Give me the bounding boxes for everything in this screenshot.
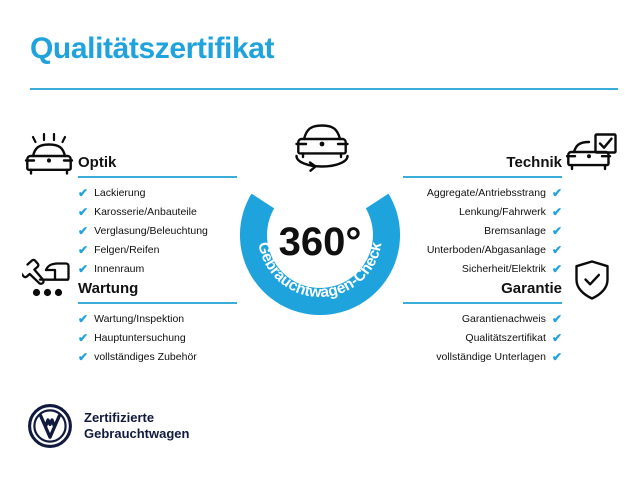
- check-icon: ✔: [552, 313, 562, 325]
- section-technik-title-wrap: Technik: [403, 154, 562, 178]
- check-icon: ✔: [552, 206, 562, 218]
- list-item: ✔ vollständiges Zubehör: [22, 351, 237, 363]
- section-garantie-title-wrap: Garantie: [403, 280, 562, 304]
- page-title: Qualitätszertifikat: [30, 32, 274, 66]
- list-item: ✔ Verglasung/Beleuchtung: [22, 225, 237, 237]
- list-item-label: Aggregate/Antriebsstrang: [427, 187, 546, 199]
- list-item: Unterboden/Abgasanlage ✔: [403, 244, 618, 256]
- certificate-page: Qualitätszertifikat: [0, 0, 640, 480]
- car-checkbox-icon: [566, 132, 618, 176]
- list-item: Bremsanlage ✔: [403, 225, 618, 237]
- section-garantie-title: Garantie: [403, 280, 562, 298]
- badge-center-label: 360°: [279, 220, 362, 264]
- section-wartung-list: ✔ Wartung/Inspektion ✔ Hauptuntersuchung…: [22, 313, 237, 363]
- section-technik-title: Technik: [403, 154, 562, 172]
- list-item-label: Felgen/Reifen: [94, 244, 159, 256]
- brand-line-2: Gebrauchtwagen: [84, 426, 189, 442]
- car-rotation-icon: [284, 117, 360, 173]
- shield-check-icon: [566, 258, 618, 302]
- section-optik-title: Optik: [78, 154, 237, 172]
- section-optik-divider: [78, 176, 237, 178]
- list-item-label: Lackierung: [94, 187, 145, 199]
- check-icon: ✔: [78, 187, 88, 199]
- section-wartung-title: Wartung: [78, 280, 237, 298]
- list-item-label: vollständige Unterlagen: [436, 351, 546, 363]
- check-icon: ✔: [552, 244, 562, 256]
- check-icon: ✔: [552, 187, 562, 199]
- section-optik-title-wrap: Optik: [78, 154, 237, 178]
- list-item: Qualitätszertifikat ✔: [403, 332, 618, 344]
- check-icon: ✔: [552, 225, 562, 237]
- list-item: ✔ Felgen/Reifen: [22, 244, 237, 256]
- vw-logo-icon: [28, 404, 72, 448]
- section-wartung-divider: [78, 302, 237, 304]
- section-wartung: Wartung ✔ Wartung/Inspektion ✔ Hauptunte…: [22, 258, 237, 370]
- section-wartung-title-wrap: Wartung: [78, 280, 237, 304]
- list-item-label: Bremsanlage: [484, 225, 546, 237]
- section-optik-header: Optik: [22, 132, 237, 178]
- list-item-label: Verglasung/Beleuchtung: [94, 225, 208, 237]
- section-garantie-list: Garantienachweis ✔ Qualitätszertifikat ✔…: [403, 313, 618, 363]
- car-shine-icon: [22, 132, 74, 176]
- list-item: Lenkung/Fahrwerk ✔: [403, 206, 618, 218]
- check-icon: ✔: [552, 351, 562, 363]
- list-item-label: Qualitätszertifikat: [465, 332, 546, 344]
- check-icon: ✔: [78, 225, 88, 237]
- check-icon: ✔: [78, 206, 88, 218]
- header-divider: [30, 88, 618, 90]
- section-wartung-header: Wartung: [22, 258, 237, 304]
- section-technik-divider: [403, 176, 562, 178]
- list-item: ✔ Wartung/Inspektion: [22, 313, 237, 325]
- check-icon: ✔: [78, 332, 88, 344]
- check-icon: ✔: [552, 332, 562, 344]
- check-icon: ✔: [78, 244, 88, 256]
- list-item-label: Lenkung/Fahrwerk: [459, 206, 546, 218]
- list-item: Garantienachweis ✔: [403, 313, 618, 325]
- brand-text: Zertifizierte Gebrauchtwagen: [84, 410, 189, 442]
- list-item-label: Wartung/Inspektion: [94, 313, 184, 325]
- wrench-car-icon: [22, 258, 74, 302]
- section-garantie-divider: [403, 302, 562, 304]
- list-item-label: Garantienachweis: [462, 313, 546, 325]
- list-item: ✔ Karosserie/Anbauteile: [22, 206, 237, 218]
- list-item: ✔ Lackierung: [22, 187, 237, 199]
- list-item: vollständige Unterlagen ✔: [403, 351, 618, 363]
- list-item: Aggregate/Antriebsstrang ✔: [403, 187, 618, 199]
- brand-line-1: Zertifizierte: [84, 410, 189, 426]
- check-icon: ✔: [78, 351, 88, 363]
- section-technik-header: Technik: [403, 132, 618, 178]
- list-item-label: Unterboden/Abgasanlage: [427, 244, 546, 256]
- section-garantie: Garantie Garantienachweis ✔ Qualitätszer…: [403, 258, 618, 370]
- check-icon: ✔: [78, 313, 88, 325]
- list-item: ✔ Hauptuntersuchung: [22, 332, 237, 344]
- list-item-label: Karosserie/Anbauteile: [94, 206, 197, 218]
- badge-360-check: 360° Gebrauchtwagen-Check: [228, 155, 412, 315]
- section-garantie-header: Garantie: [403, 258, 618, 304]
- list-item-label: Hauptuntersuchung: [94, 332, 186, 344]
- list-item-label: vollständiges Zubehör: [94, 351, 197, 363]
- brand-lockup: Zertifizierte Gebrauchtwagen: [28, 404, 189, 448]
